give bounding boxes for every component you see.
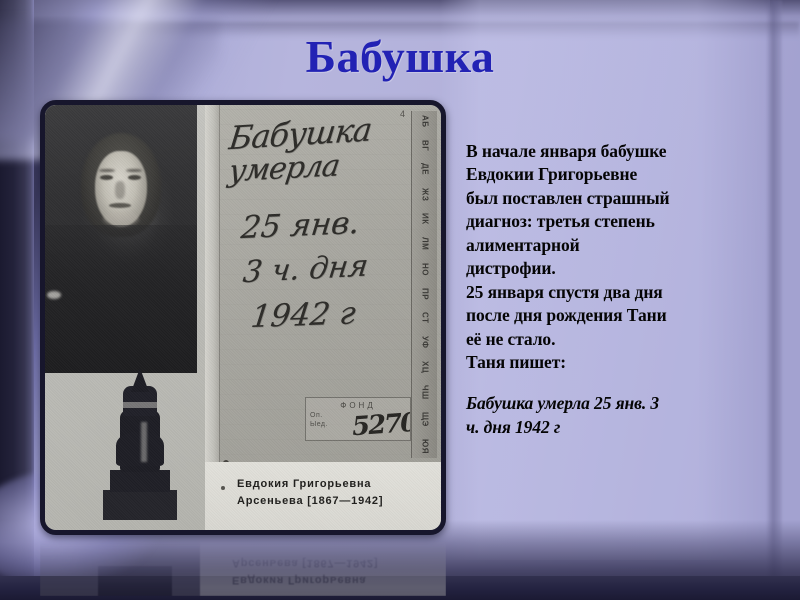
reflection-caption: Евдокия Григорьевна Арсеньева [1867—1942…: [232, 554, 378, 588]
portrait-eye-right: [128, 175, 141, 180]
index-tab: ЧШ: [421, 385, 429, 400]
portrait-nose: [115, 181, 125, 199]
index-tab: ЩЭ: [421, 412, 429, 427]
index-tab: УФ: [421, 336, 429, 349]
narrative-paragraph: В начале января бабушке Евдокии Григорье…: [466, 140, 784, 374]
photo-reflection: Евдокия Григорьевна Арсеньева [1867—1942…: [40, 540, 446, 596]
caption-dot: [221, 486, 225, 490]
reflection-monument: [98, 566, 172, 596]
photo-image: 4 АБ ВГ ДЕ ЖЗ ИК ЛМ НО ПР СТ УФ ХЦ ЧШ ЩЭ…: [45, 105, 441, 530]
monument-base: [103, 490, 177, 520]
handwriting-line-3: 25 янв.: [239, 205, 440, 245]
monument-silhouette: [103, 370, 177, 520]
portrait-shawl: [45, 225, 197, 373]
historical-photo-frame: 4 АБ ВГ ДЕ ЖЗ ИК ЛМ НО ПР СТ УФ ХЦ ЧШ ЩЭ…: [40, 100, 446, 535]
handwriting-line-4: 3 ч. дня: [241, 248, 440, 288]
photo-speck: [47, 291, 61, 299]
monument-spire: [131, 368, 149, 392]
diary-quote: Бабушка умерла 25 янв. 3 ч. дня 1942 г: [466, 392, 784, 439]
narrative-text-block: В начале января бабушке Евдокии Григорье…: [466, 140, 784, 439]
index-tab: ЮЯ: [421, 439, 429, 454]
page-title: Бабушка: [0, 34, 800, 80]
portrait-page: [45, 105, 205, 530]
photo-caption-strip: Евдокия Григорьевна Арсеньева [1867—1942…: [205, 462, 441, 530]
portrait-photo-image: [45, 105, 197, 373]
handwriting-line-5: 1942 г: [249, 296, 441, 334]
portrait-brow-right: [126, 169, 142, 172]
diary-handwriting: Бабушка умерла 25 янв. 3 ч. дня 1942 г: [231, 123, 441, 333]
monument-shoulders: [116, 432, 164, 466]
monument-band: [123, 402, 157, 408]
monument-highlight: [141, 422, 147, 462]
photo-caption: Евдокия Григорьевна Арсеньева [1867—1942…: [237, 476, 383, 510]
portrait-brow-left: [99, 169, 115, 172]
handwriting-line-2: умерла: [227, 146, 441, 187]
index-tab: ХЦ: [421, 361, 429, 373]
presentation-slide: Бабушка: [0, 0, 800, 600]
portrait-mouth: [109, 203, 131, 208]
monument-plinth: [110, 470, 170, 492]
portrait-eye-left: [100, 175, 113, 180]
archive-stamp: ФОНД Оп. Ыед. 5270: [305, 397, 411, 441]
archive-stamp-number: 5270: [351, 408, 411, 441]
